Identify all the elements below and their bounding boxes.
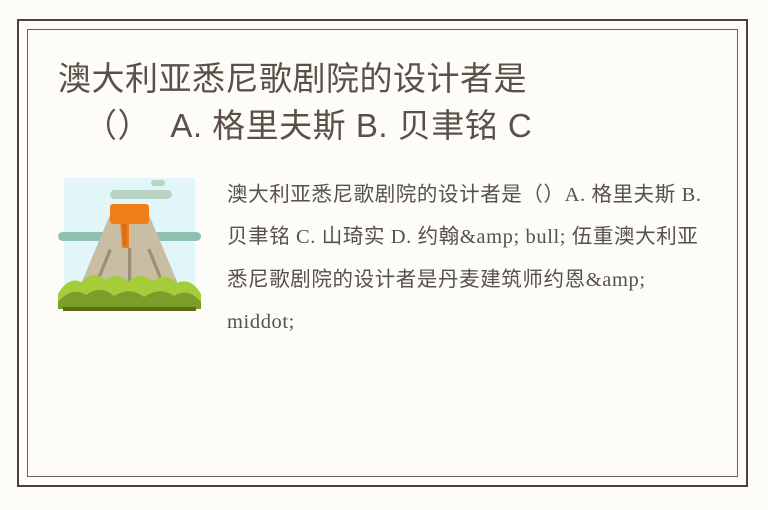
volcano-icon [58,176,201,317]
page-title: 澳大利亚悉尼歌剧院的设计者是（） A. 格里夫斯 B. 贝聿铭 C [28,30,737,150]
volcano-illustration [58,176,201,317]
page-title-line-1: 澳大利亚悉尼歌剧院的设计者是 [58,60,527,97]
cloud-puff-small [151,180,165,186]
article-content: 澳大利亚悉尼歌剧院的设计者是（） A. 格里夫斯 B. 贝聿铭 C [28,30,737,480]
ground-line [63,307,196,311]
lava-spill [128,217,144,223]
cloud-band-top [110,190,172,199]
article-paragraph: 澳大利亚悉尼歌剧院的设计者是（）A. 格里夫斯 B. 贝聿铭 C. 山琦实 D.… [227,172,707,344]
page-title-line-2: （） A. 格里夫斯 B. 贝聿铭 C [58,103,719,150]
article-body-row: 澳大利亚悉尼歌剧院的设计者是（）A. 格里夫斯 B. 贝聿铭 C. 山琦实 D.… [28,150,737,344]
